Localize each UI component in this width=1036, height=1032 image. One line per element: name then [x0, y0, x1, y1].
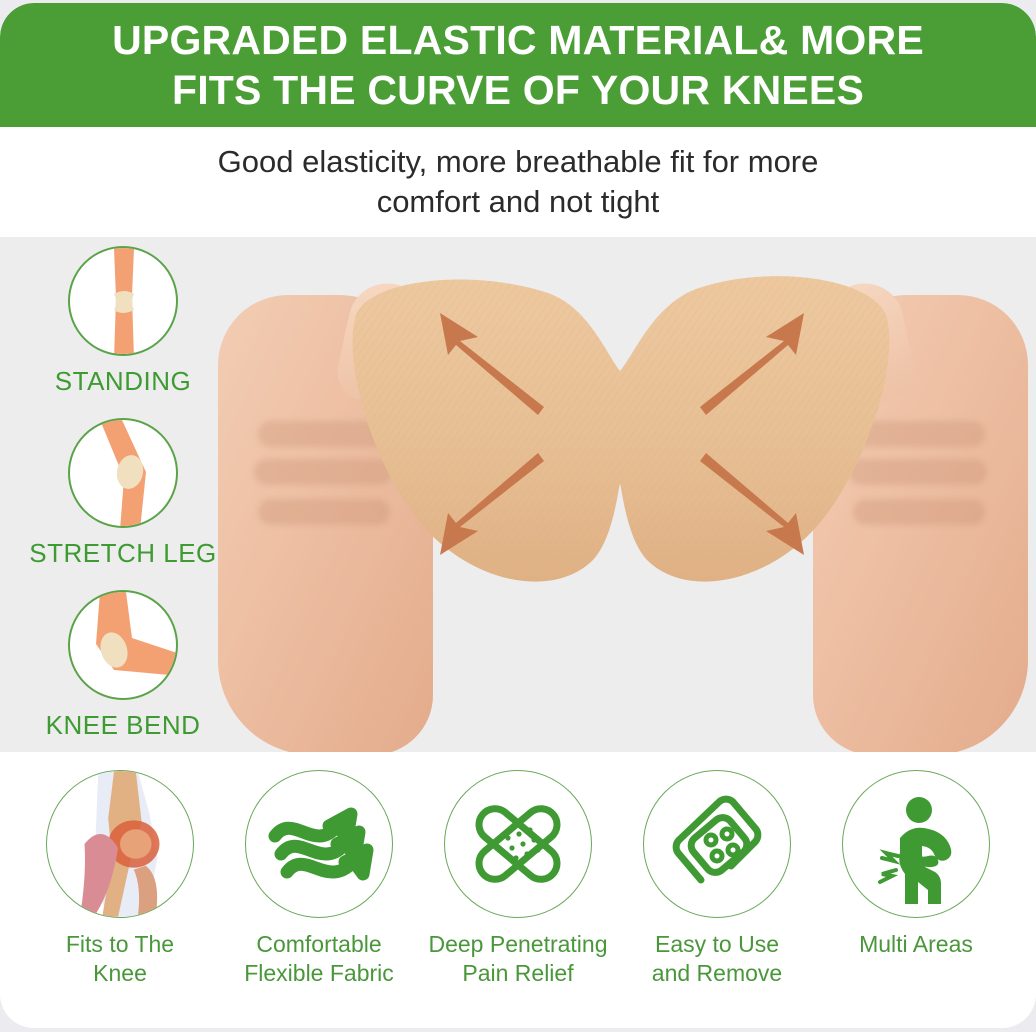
peel-patch-icon — [643, 770, 791, 918]
knee-bend-icon — [68, 590, 178, 700]
feature-label: Multi Areas — [818, 930, 1014, 959]
subtitle-section: Good elasticity, more breathable fit for… — [0, 127, 1036, 237]
product-photo — [200, 237, 1036, 752]
feature-item-fits-to-the-knee: Fits to The Knee — [22, 770, 218, 988]
feature-item-deep-penetrating-pain-relief: Deep Penetrating Pain Relief — [420, 770, 616, 988]
subtitle-text: Good elasticity, more breathable fit for… — [118, 142, 918, 222]
banner-title: UPGRADED ELASTIC MATERIAL& MORE FITS THE… — [43, 15, 993, 115]
feature-item-multi-areas: Multi Areas — [818, 770, 1014, 959]
feature-label: Easy to Use and Remove — [619, 930, 815, 988]
knee-anatomy-icon — [46, 770, 194, 918]
back-pain-person-icon — [842, 770, 990, 918]
patch-shape — [348, 275, 893, 605]
stretch-leg-icon — [68, 418, 178, 528]
standing-leg-icon — [68, 246, 178, 356]
feature-label: Comfortable Flexible Fabric — [221, 930, 417, 988]
knee-patch — [348, 275, 893, 605]
hero-panel: STANDING STRETCH LEG — [0, 237, 1036, 752]
feature-label: Deep Penetrating Pain Relief — [420, 930, 616, 988]
header-banner: UPGRADED ELASTIC MATERIAL& MORE FITS THE… — [0, 3, 1036, 127]
feature-row: Fits to The Knee Comfortable Flexible Fa… — [0, 752, 1036, 1028]
crossed-bandages-icon — [444, 770, 592, 918]
feature-label: Fits to The Knee — [22, 930, 218, 988]
infographic-card: UPGRADED ELASTIC MATERIAL& MORE FITS THE… — [0, 3, 1036, 1028]
feature-item-comfortable-flexible-fabric: Comfortable Flexible Fabric — [221, 770, 417, 988]
feature-item-easy-to-use-and-remove: Easy to Use and Remove — [619, 770, 815, 988]
airflow-arrows-icon — [245, 770, 393, 918]
product-infographic: UPGRADED ELASTIC MATERIAL& MORE FITS THE… — [0, 0, 1036, 1032]
